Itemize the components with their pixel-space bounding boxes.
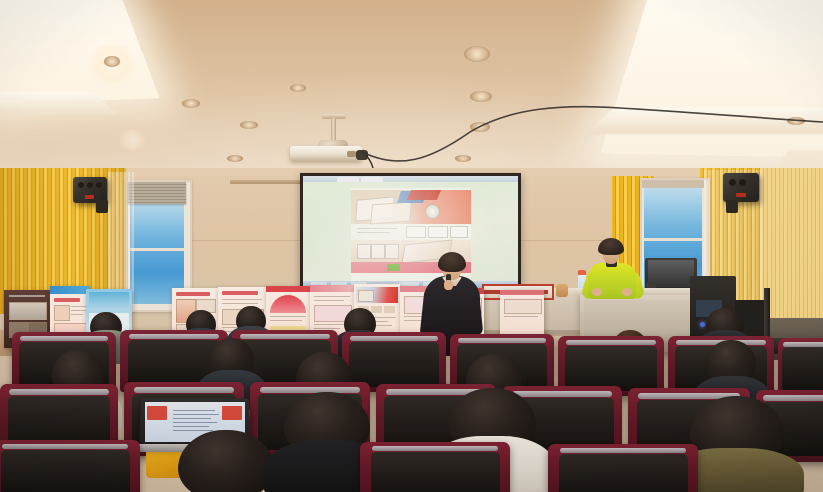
screen-hotspot-glow — [303, 176, 518, 289]
speaker-brand-badge-right — [736, 193, 746, 197]
ledge-figurine — [556, 284, 568, 297]
host-hand-left — [592, 288, 602, 296]
auditorium-seat[interactable] — [778, 338, 823, 396]
speaker-bracket-right — [726, 200, 738, 213]
host-hair — [598, 238, 624, 255]
av-rack-led-indicator — [700, 322, 705, 327]
projection-screen-frame — [300, 173, 521, 292]
auditorium-seat[interactable] — [548, 444, 698, 492]
speaker-brand-badge-left — [85, 195, 94, 199]
auditorium-seat[interactable] — [360, 442, 510, 492]
auditorium-seat[interactable] — [0, 440, 140, 492]
laptop-ui-panel-right — [222, 406, 242, 420]
window-left-mullion — [130, 248, 184, 251]
speaker-bracket-left — [96, 200, 108, 213]
laptop-ui-panel-left — [147, 406, 167, 420]
presenter-hair — [438, 252, 466, 272]
window-right-blind-header — [642, 180, 704, 188]
presenter-hand — [444, 280, 453, 290]
lecture-hall-photo — [0, 0, 823, 492]
window-right-mullion — [644, 238, 702, 241]
projection-screen-surface — [303, 176, 518, 289]
window-left-blinds — [128, 182, 186, 204]
wall-speaker-right — [723, 173, 759, 202]
poster-board — [500, 290, 544, 338]
water-bottle-cap — [578, 270, 586, 275]
host-hand-right — [622, 288, 632, 296]
